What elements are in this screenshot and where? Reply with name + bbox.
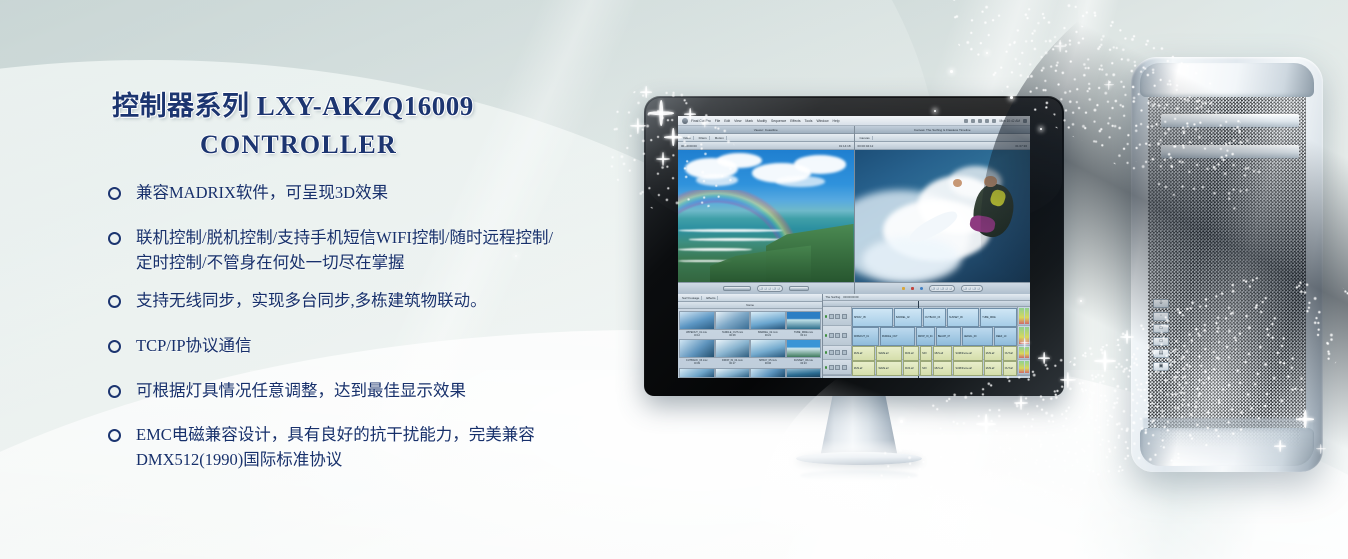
- track-lock-icon[interactable]: [829, 333, 834, 338]
- feature-item: 联机控制/脱机控制/支持手机短信WIFI控制/随时远程控制/ 定时控制/不管身在…: [108, 225, 553, 275]
- feature-text: 兼容MADRIX软件，可呈现3D效果: [136, 180, 388, 205]
- track-header-a1[interactable]: [823, 346, 852, 360]
- clip-thumbnail[interactable]: [750, 311, 786, 330]
- timeline-clip[interactable]: MUS.aif: [852, 346, 876, 360]
- tower-top-cap: [1140, 63, 1314, 97]
- menu-item-mark[interactable]: Mark: [745, 118, 753, 123]
- timeline-clip[interactable]: SUNSET_06: [947, 308, 979, 327]
- overwrite-edit-icon[interactable]: [968, 287, 971, 290]
- prev-frame-icon[interactable]: [936, 287, 939, 290]
- track-enable-led[interactable]: [825, 334, 828, 337]
- timeline-clip[interactable]: WAVE.aif: [876, 346, 902, 360]
- tab-filters[interactable]: Filters: [697, 136, 710, 140]
- page-title: 控制器系列 LXY-AKZQ16009: [112, 84, 474, 123]
- track-lock-icon[interactable]: [829, 365, 834, 370]
- timeline-audio-meters: [1017, 307, 1030, 325]
- track-header-a2[interactable]: [823, 360, 852, 374]
- timeline-clip[interactable]: MUS.aif: [852, 361, 876, 375]
- clip-cell[interactable]: CUTBACK_03.mov 00:09: [680, 339, 714, 365]
- timeline-audio-meters: [1017, 360, 1030, 374]
- marker-yellow-icon[interactable]: [902, 287, 905, 290]
- browser-tabs[interactable]: Surf Footage Effects: [678, 294, 822, 302]
- track-target-icon[interactable]: [842, 314, 847, 319]
- mark-out-icon[interactable]: [777, 287, 780, 290]
- volume-icon[interactable]: [978, 119, 982, 123]
- track-lane-v2[interactable]: SPRAY_05 BARREL_02 CUTBACK_03 SUNSET_06 …: [852, 307, 1017, 325]
- timeline-clip[interactable]: SURFtheme.aif: [953, 361, 982, 375]
- sparkle-star: [1094, 350, 1116, 372]
- record-icon[interactable]: [911, 287, 914, 290]
- tab-video[interactable]: Video: [681, 136, 694, 140]
- sparkle-dot: [515, 255, 517, 257]
- feature-text: EMC电磁兼容设计，具有良好的抗干扰能力，完美兼容DMX512(1990)国际标…: [136, 422, 640, 472]
- menu-item-file[interactable]: File: [715, 118, 720, 123]
- viewer-right-transport[interactable]: [855, 282, 1031, 294]
- viewer-left-canvas[interactable]: [678, 150, 854, 282]
- timeline-clip[interactable]: BEACH_07: [936, 327, 961, 346]
- viewer-panel-left: Viewer: Coastline Video Filters Motion 0…: [678, 126, 854, 294]
- sparkle-dot: [1080, 300, 1082, 302]
- play-icon[interactable]: [940, 287, 943, 290]
- track-solo-icon[interactable]: [842, 350, 847, 355]
- menu-item-final-cut-pro[interactable]: Final Cut Pro: [691, 118, 711, 123]
- menu-item-help[interactable]: Help: [833, 118, 840, 123]
- clip-duration: 00:12: [694, 334, 700, 337]
- timeline-clip[interactable]: MUS.aif: [933, 361, 953, 375]
- spotlight-icon[interactable]: [1023, 119, 1027, 123]
- sparkle-dot: [950, 70, 953, 73]
- feature-item: TCP/IP协议通信: [108, 333, 252, 358]
- prev-frame-icon[interactable]: [764, 287, 767, 290]
- menubar-clock: Mon 10:42 AM: [999, 119, 1020, 123]
- sparkle-dot: [900, 420, 903, 423]
- audio-meter-left: [1019, 308, 1024, 324]
- sparkle-dot: [1040, 128, 1042, 130]
- viewer-right-timecode-out[interactable]: 01:07:36: [1015, 144, 1027, 148]
- audio-meter-right: [1025, 347, 1030, 359]
- track-mute-icon[interactable]: [835, 365, 840, 370]
- clip-cell[interactable]: AERIAL_09.mov: [751, 368, 785, 379]
- timeline-timecode[interactable]: 00:00:00:00: [843, 295, 858, 299]
- menu-item-window[interactable]: Window: [816, 118, 828, 123]
- clip-thumbnail[interactable]: [786, 368, 822, 378]
- transport-group-edit[interactable]: [961, 285, 983, 291]
- mark-out-icon[interactable]: [949, 287, 952, 290]
- audio-meter-left: [1019, 327, 1024, 343]
- tab-canvas[interactable]: Canvas: [858, 136, 873, 140]
- browser-panel: Surf Footage Effects Name WIPEOUT_01.mov…: [678, 294, 823, 378]
- zoom-bar[interactable]: [789, 286, 809, 290]
- lower-row: Surf Footage Effects Name WIPEOUT_01.mov…: [678, 294, 1030, 378]
- mark-in-icon[interactable]: [759, 287, 762, 290]
- transport-group-playback[interactable]: [929, 285, 955, 291]
- clip-cell[interactable]: BARREL_02.mov 00:21: [751, 311, 785, 337]
- viewer-left-tabs[interactable]: Video Filters Motion: [678, 134, 854, 142]
- next-frame-icon[interactable]: [772, 287, 775, 290]
- feature-text: 联机控制/脱机控制/支持手机短信WIFI控制/随时远程控制/ 定时控制/不管身在…: [136, 225, 553, 275]
- tower-mesh-sheen: [1148, 93, 1306, 432]
- menu-item-view[interactable]: View: [734, 118, 741, 123]
- track-enable-led[interactable]: [825, 351, 828, 354]
- browser-column-header-label: Name: [746, 303, 754, 307]
- headphone-icon[interactable]: ◦: [1153, 312, 1169, 321]
- menubar-status-area[interactable]: Mon 10:42 AM: [964, 119, 1030, 123]
- tab-effects[interactable]: Effects: [704, 296, 718, 300]
- track-header-v2[interactable]: [823, 307, 852, 325]
- cinema-display: Final Cut Pro File Edit View Mark Modify…: [644, 96, 1064, 396]
- track-target-icon[interactable]: [842, 333, 847, 338]
- timeline-clip[interactable]: MUS.aif: [903, 346, 919, 360]
- firewire-icon[interactable]: ▭: [1153, 324, 1169, 333]
- track-lock-icon[interactable]: [829, 314, 834, 319]
- time-machine-icon[interactable]: [971, 119, 975, 123]
- clip-thumbnail[interactable]: [786, 339, 822, 358]
- audio-meter-left: [1019, 361, 1024, 373]
- timeline-clip[interactable]: AERIAL_09: [962, 327, 993, 346]
- cloud-shape: [776, 176, 825, 187]
- clip-cell[interactable]: DROP_IN_04.mov 00:17: [716, 339, 750, 365]
- track-lock-icon[interactable]: [829, 350, 834, 355]
- ring-bullet-icon: [108, 232, 121, 245]
- bluetooth-icon[interactable]: [964, 119, 968, 123]
- usb-icon[interactable]: ▭: [1153, 337, 1169, 346]
- menu-item-sequence[interactable]: Sequence: [771, 118, 786, 123]
- track-enable-led[interactable]: [825, 366, 828, 369]
- monitor-stand-reflection: [800, 470, 918, 481]
- audio-meter-right: [1025, 327, 1030, 343]
- menu-item-tools[interactable]: Tools: [805, 118, 813, 123]
- timeline-clip[interactable]: MUS.aif: [984, 346, 1002, 360]
- audio-meter-right: [1025, 308, 1030, 324]
- clip-thumbnail[interactable]: [679, 368, 715, 378]
- fit-to-fill-icon[interactable]: [977, 287, 980, 290]
- viewer-left-title: Viewer: Coastline: [754, 128, 778, 132]
- next-frame-icon[interactable]: [945, 287, 948, 290]
- viewer-right-titlebar[interactable]: Canvas: The Surfing Is Flawless Timeline: [855, 126, 1031, 134]
- wifi-icon[interactable]: [985, 119, 989, 123]
- sparkle-dot: [470, 300, 472, 302]
- menu-item-modify[interactable]: Modify: [757, 118, 767, 123]
- ring-bullet-icon: [108, 429, 121, 442]
- audio-meter-left: [1019, 347, 1024, 359]
- spray-shape: [862, 237, 960, 282]
- sparkle-star: [1104, 80, 1114, 90]
- cloud-shape: [696, 174, 738, 186]
- clip-cell[interactable]: SUNSET_06.mov 00:23: [787, 339, 821, 365]
- timeline-audio-meters: [1017, 346, 1030, 360]
- page-subtitle: CONTROLLER: [200, 130, 397, 160]
- feature-text: 支持无线同步，实现多台同步,多栋建筑物联动。: [136, 288, 487, 313]
- track-visibility-icon[interactable]: [835, 333, 840, 338]
- track-row-v1: WIPEOUT_01 PADDLE_OUT DROP_IN_04 BEACH_0…: [823, 326, 1030, 345]
- timeline-clip[interactable]: SFX: [920, 346, 931, 360]
- clip-cell[interactable]: TUBE_RIDE.mov 00:14: [787, 311, 821, 337]
- tower-io-panel[interactable]: ⏚ ◦ ▭ ▭ ▤ ▣: [1153, 299, 1169, 371]
- clip-duration: 00:23: [800, 362, 806, 365]
- clip-thumbnail[interactable]: [750, 368, 786, 378]
- ethernet-icon[interactable]: ▤: [1153, 349, 1169, 358]
- viewer-left-toolbar[interactable]: 00:00:00:00 01:14:18: [678, 142, 854, 150]
- sparkle-star: [976, 414, 996, 434]
- sparkle-dot: [934, 110, 936, 112]
- timeline-tabs[interactable]: The Surfing 00:00:00:00: [823, 294, 1030, 301]
- clip-duration: 00:06: [765, 362, 771, 365]
- sparkle-dot: [1010, 96, 1013, 99]
- audio-meter-right: [1025, 361, 1030, 373]
- timeline-clip[interactable]: OUT.aif: [1003, 361, 1017, 375]
- viewer-left-transport[interactable]: [678, 282, 854, 294]
- track-row-a2: MUS.aif WAVE.aif MUS.aif SFX MUS.aif SUR…: [823, 360, 1030, 375]
- ring-bullet-icon: [108, 340, 121, 353]
- feature-item: EMC电磁兼容设计，具有良好的抗干扰能力，完美兼容DMX512(1990)国际标…: [108, 422, 640, 472]
- clip-cell[interactable]: WIPEOUT_01.mov 00:12: [680, 311, 714, 337]
- product-banner: 控制器系列 LXY-AKZQ16009 CONTROLLER 兼容MADRIX软…: [0, 0, 1348, 559]
- timeline-clip[interactable]: CUTBACK_03: [923, 308, 946, 327]
- clip-cell[interactable]: PADDLE_OUT.mov 00:08: [716, 311, 750, 337]
- timeline-clip[interactable]: REEF_10: [994, 327, 1017, 346]
- timeline-panel: The Surfing 00:00:00:00: [823, 294, 1030, 378]
- ring-bullet-icon: [108, 385, 121, 398]
- scrubber-bar[interactable]: [723, 286, 751, 290]
- clip-thumbnail[interactable]: [715, 311, 751, 330]
- tab-surf-footage[interactable]: Surf Footage: [680, 296, 702, 300]
- viewer-right-title: Canvas: The Surfing Is Flawless Timeline: [914, 128, 971, 132]
- optical-drive-slot[interactable]: [1161, 114, 1299, 127]
- clip-thumbnail[interactable]: [679, 339, 715, 358]
- clip-duration: 00:09: [694, 362, 700, 365]
- clip-cell[interactable]: REEF_10.mov: [787, 368, 821, 379]
- clip-thumbnail[interactable]: [786, 311, 822, 330]
- track-solo-icon[interactable]: [842, 365, 847, 370]
- viewer-left-timecode-in[interactable]: 00:00:00:00: [681, 144, 697, 148]
- clip-duration: 00:21: [765, 334, 771, 337]
- tab-motion[interactable]: Motion: [713, 136, 727, 140]
- menu-item-edit[interactable]: Edit: [724, 118, 730, 123]
- ring-bullet-icon: [108, 295, 121, 308]
- viewer-left-timecode-out[interactable]: 01:14:18: [839, 144, 851, 148]
- track-lane-a1[interactable]: MUS.aif WAVE.aif MUS.aif SFX MUS.aif SUR…: [852, 346, 1017, 360]
- track-row-a1: MUS.aif WAVE.aif MUS.aif SFX MUS.aif SUR…: [823, 346, 1030, 361]
- clip-thumbnail[interactable]: [715, 339, 751, 358]
- clip-duration: 00:08: [729, 334, 735, 337]
- clip-cell[interactable]: BEACH_07.mov: [680, 368, 714, 379]
- clip-thumbnail[interactable]: [679, 311, 715, 330]
- track-lane-v1[interactable]: WIPEOUT_01 PADDLE_OUT DROP_IN_04 BEACH_0…: [852, 326, 1017, 344]
- track-lane-a2[interactable]: MUS.aif WAVE.aif MUS.aif SFX MUS.aif SUR…: [852, 360, 1017, 374]
- feature-item: 可根据灯具情况任意调整，达到最佳显示效果: [108, 378, 466, 403]
- sparkle-dot: [986, 52, 988, 54]
- transport-group-playback[interactable]: [757, 285, 783, 291]
- tab-sequence[interactable]: The Surfing: [825, 295, 840, 299]
- browser-clip-grid[interactable]: WIPEOUT_01.mov 00:12 PADDLE_OUT.mov 00:0…: [678, 309, 822, 378]
- feature-text: 可根据灯具情况任意调整，达到最佳显示效果: [136, 378, 466, 403]
- timeline-scrollbar[interactable]: [823, 375, 1030, 378]
- mark-in-icon[interactable]: [931, 287, 934, 290]
- battery-icon[interactable]: [992, 119, 996, 123]
- viewer-left-titlebar[interactable]: Viewer: Coastline: [678, 126, 854, 134]
- sparkle-dot: [940, 456, 942, 458]
- viewer-right-tabs[interactable]: Canvas: [855, 134, 1031, 142]
- clip-thumbnail[interactable]: [750, 339, 786, 358]
- timeline-clip[interactable]: SFX: [920, 361, 931, 375]
- ring-bullet-icon: [108, 187, 121, 200]
- usb-icon[interactable]: ⏚: [1153, 299, 1169, 308]
- replace-edit-icon[interactable]: [972, 287, 975, 290]
- viewer-right-toolbar[interactable]: 00:00:04:12 01:07:36: [855, 142, 1031, 150]
- track-row-v2: SPRAY_05 BARREL_02 CUTBACK_03 SUNSET_06 …: [823, 307, 1030, 326]
- cloud-shape: [794, 155, 847, 173]
- timeline-audio-meters: [1017, 326, 1030, 344]
- timeline-clip[interactable]: BARREL_02: [894, 308, 922, 327]
- clip-duration: 00:14: [800, 334, 806, 337]
- viewer-row: Viewer: Coastline Video Filters Motion 0…: [678, 126, 1030, 294]
- timeline-clip[interactable]: PADDLE_OUT: [880, 327, 915, 346]
- optical-drive-slot[interactable]: [1161, 145, 1299, 158]
- copy-column: 控制器系列 LXY-AKZQ16009 CONTROLLER 兼容MADRIX软…: [0, 0, 640, 559]
- track-enable-led[interactable]: [825, 315, 828, 318]
- viewer-right-canvas[interactable]: [855, 150, 1031, 282]
- timeline-clip[interactable]: MUS.aif: [903, 361, 919, 375]
- sparkle-star: [1054, 40, 1066, 52]
- clip-cell[interactable]: BOARD_08.mov: [716, 368, 750, 379]
- display-icon[interactable]: ▣: [1153, 362, 1169, 371]
- timeline-clip[interactable]: SURFtheme.aif: [953, 346, 982, 360]
- surfer-hand: [953, 179, 962, 187]
- timeline-tracks: SPRAY_05 BARREL_02 CUTBACK_03 SUNSET_06 …: [823, 307, 1030, 375]
- sparkle-star: [1014, 396, 1028, 410]
- tower-reflection-mesh: [1160, 418, 1300, 448]
- viewer-right-timecode-in[interactable]: 00:00:04:12: [858, 144, 874, 148]
- apple-logo-icon[interactable]: [682, 118, 688, 124]
- monitor-stand-base: [796, 452, 922, 465]
- feature-text: TCP/IP协议通信: [136, 333, 252, 358]
- play-icon[interactable]: [768, 287, 771, 290]
- track-visibility-icon[interactable]: [835, 314, 840, 319]
- monitor-screen: Final Cut Pro File Edit View Mark Modify…: [678, 116, 1030, 378]
- match-frame-icon[interactable]: [920, 287, 923, 290]
- track-header-v1[interactable]: [823, 326, 852, 344]
- timeline-clip[interactable]: MUS.aif: [933, 346, 953, 360]
- timeline-clip[interactable]: DROP_IN_04: [916, 327, 935, 346]
- feature-item: 兼容MADRIX软件，可呈现3D效果: [108, 180, 388, 205]
- insert-edit-icon[interactable]: [963, 287, 966, 290]
- mac-pro-tower: ⏚ ◦ ▭ ▭ ▤ ▣: [1131, 57, 1323, 472]
- menu-item-effects[interactable]: Effects: [790, 118, 800, 123]
- timeline-clip[interactable]: TUBE_RIDE: [980, 308, 1017, 327]
- surfer-head: [984, 176, 996, 187]
- viewer-panel-right: Canvas: The Surfing Is Flawless Timeline…: [854, 126, 1031, 294]
- timeline-clip[interactable]: SPRAY_05: [852, 308, 893, 327]
- track-mute-icon[interactable]: [835, 350, 840, 355]
- surf-line: [678, 248, 752, 251]
- timeline-clip[interactable]: WAVE.aif: [876, 361, 902, 375]
- timeline-clip[interactable]: WIPEOUT_01: [852, 327, 879, 346]
- timeline-clip[interactable]: OUT.aif: [1003, 346, 1017, 360]
- clip-duration: 00:17: [729, 362, 735, 365]
- browser-column-header[interactable]: Name: [678, 302, 822, 309]
- clip-thumbnail[interactable]: [715, 368, 751, 378]
- clip-cell[interactable]: SPRAY_05.mov 00:06: [751, 339, 785, 365]
- app-menubar[interactable]: Final Cut Pro File Edit View Mark Modify…: [678, 116, 1030, 126]
- timeline-clip[interactable]: MUS.aif: [984, 361, 1002, 375]
- feature-item: 支持无线同步，实现多台同步,多栋建筑物联动。: [108, 288, 487, 313]
